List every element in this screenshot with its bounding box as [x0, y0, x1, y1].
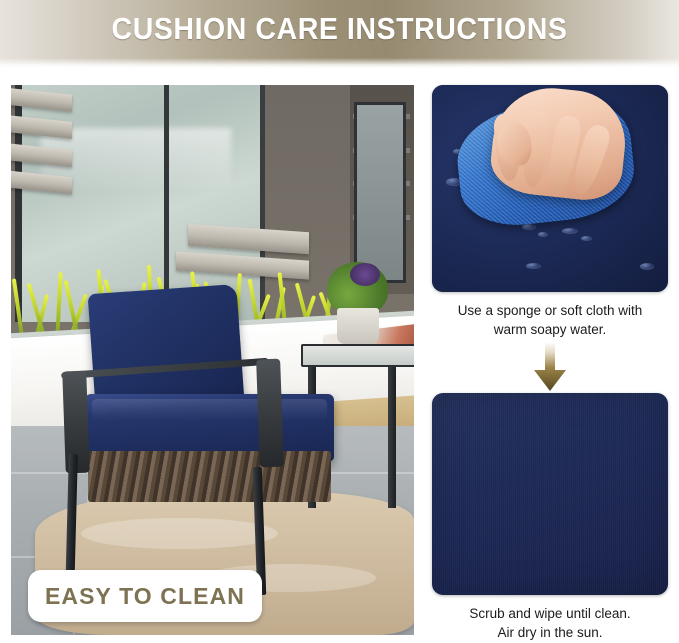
glass-window-right	[354, 102, 406, 284]
patio-chair	[43, 289, 390, 608]
hero-product-photo	[11, 85, 414, 635]
chair-base-wicker	[88, 451, 331, 502]
easy-to-clean-label: EASY TO CLEAN	[45, 583, 245, 610]
easy-to-clean-badge: EASY TO CLEAN	[28, 570, 262, 622]
page-title: CUSHION CARE INSTRUCTIONS	[27, 11, 652, 47]
water-droplet	[522, 224, 536, 230]
water-droplet	[640, 263, 654, 270]
step-2-caption: Scrub and wipe until clean. Air dry in t…	[432, 604, 668, 642]
step-1-photo	[432, 85, 668, 292]
header-banner: CUSHION CARE INSTRUCTIONS	[0, 0, 679, 68]
care-steps-column: Use a sponge or soft cloth with warm soa…	[432, 85, 668, 643]
arrow-down-icon	[533, 342, 567, 392]
banner-bottom-fade	[0, 58, 679, 68]
step-1-caption-line-1: Use a sponge or soft cloth with	[432, 301, 668, 320]
step-1-caption-line-2: warm soapy water.	[432, 320, 668, 339]
step-1-caption: Use a sponge or soft cloth with warm soa…	[432, 301, 668, 339]
step-2-caption-line-1: Scrub and wipe until clean.	[432, 604, 668, 623]
chair-arm-right	[256, 358, 284, 467]
water-droplet	[538, 232, 547, 237]
step-2-photo	[432, 393, 668, 595]
water-droplet	[526, 263, 540, 269]
step-2-caption-line-2: Air dry in the sun.	[432, 623, 668, 642]
hero-scene	[11, 85, 414, 635]
step-arrow	[432, 341, 668, 393]
